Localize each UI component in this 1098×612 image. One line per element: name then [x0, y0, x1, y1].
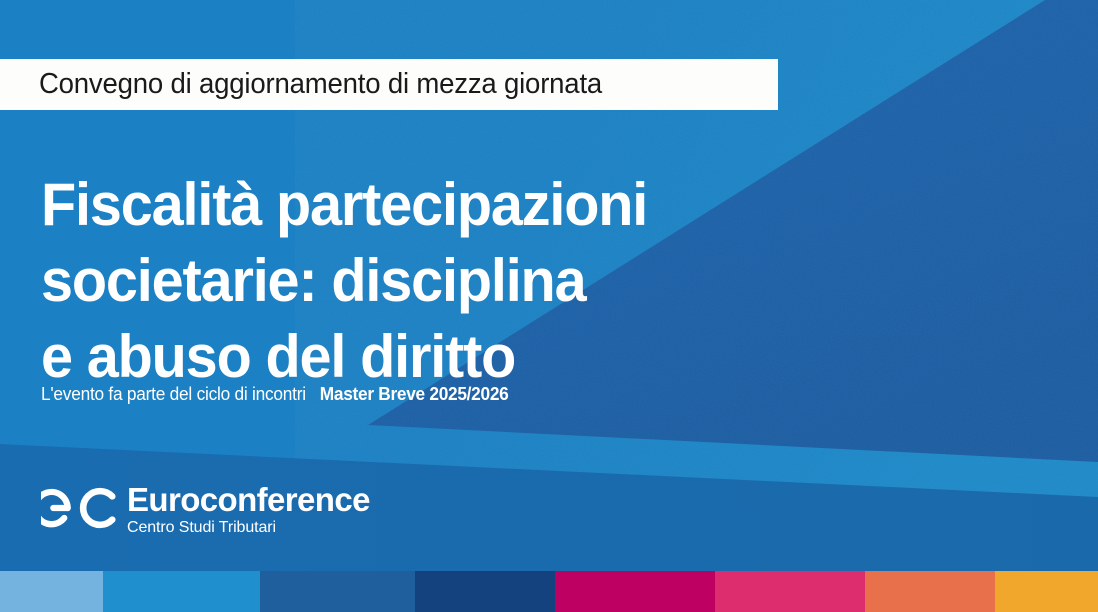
title-line-1: Fiscalità partecipazioni [41, 167, 647, 243]
ec-monogram-icon [41, 481, 119, 535]
color-swatch-magenta [555, 571, 715, 612]
series-note: L'evento fa parte del ciclo di incontri … [41, 384, 508, 405]
logo-wordmark: Euroconference Centro Studi Tributari [127, 481, 370, 537]
brand-logo: Euroconference Centro Studi Tributari [41, 481, 370, 537]
eyebrow-badge: Convegno di aggiornamento di mezza giorn… [0, 59, 778, 110]
logo-tagline: Centro Studi Tributari [127, 519, 370, 537]
color-swatch-light-blue [0, 571, 103, 612]
eyebrow-label: Convegno di aggiornamento di mezza giorn… [0, 68, 602, 101]
color-swatch-medium-blue [260, 571, 415, 612]
page-title: Fiscalità partecipazioni societarie: dis… [41, 167, 647, 395]
title-line-2: societarie: disciplina [41, 243, 647, 319]
color-swatch-navy-blue [415, 571, 555, 612]
logo-name: Euroconference [127, 483, 370, 516]
series-note-emphasis: Master Breve 2025/2026 [320, 384, 509, 404]
color-swatch-pink [715, 571, 865, 612]
color-swatch-sky-blue [103, 571, 260, 612]
event-promo-banner: Convegno di aggiornamento di mezza giorn… [0, 0, 1098, 612]
series-note-lead: L'evento fa parte del ciclo di incontri [41, 384, 306, 404]
brand-color-strip [0, 571, 1098, 612]
color-swatch-orange [865, 571, 995, 612]
color-swatch-amber [995, 571, 1098, 612]
